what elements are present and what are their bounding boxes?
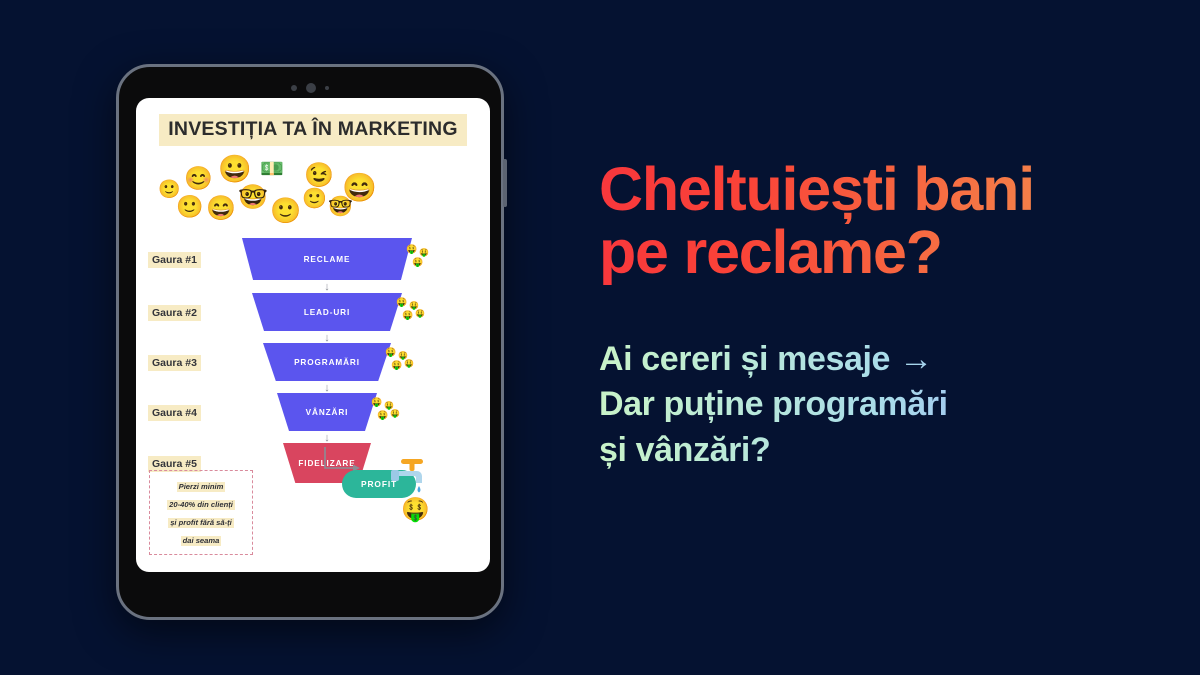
subheadline-line-1: Ai cereri și mesaje → xyxy=(599,337,1119,383)
money-face-icon: 🤑 xyxy=(391,361,402,370)
headline-line-2: pe reclame? xyxy=(599,221,1119,284)
leaking-customers-2: 🤑🤑🤑🤑 xyxy=(396,298,442,330)
copy-block: Cheltuiești bani pe reclame? Ai cereri ș… xyxy=(599,158,1119,474)
infographic-title: INVESTIȚIA TA ÎN MARKETING xyxy=(156,114,470,146)
hole-label-4: Gaura #4 xyxy=(148,405,201,421)
funnel-stage-programări: PROGRAMĂRI xyxy=(263,343,391,381)
funnel-stage-reclame: RECLAME xyxy=(242,238,412,280)
money-face-icon: 🤑 xyxy=(406,245,417,254)
faucet-icon xyxy=(389,456,435,500)
funnel-arrow-icon: ↓ xyxy=(324,383,330,394)
tablet-side-button[interactable] xyxy=(503,159,507,207)
hole-label-1: Gaura #1 xyxy=(148,252,201,268)
leaking-customers-1: 🤑🤑🤑 xyxy=(406,245,452,277)
money-face-icon: 🤑 xyxy=(419,249,429,257)
loss-note-box: Pierzi minim20-40% din cliențiși profit … xyxy=(149,470,253,555)
loss-note-line: Pierzi minim xyxy=(177,482,226,492)
subheadline-line-3: și vânzări? xyxy=(599,428,1119,474)
money-face-icon: 🤑 xyxy=(390,410,400,418)
money-face-icon: 🤑 xyxy=(385,348,396,357)
leaking-customers-3: 🤑🤑🤑🤑 xyxy=(385,348,431,380)
loss-note-line: și profit fără să-ți xyxy=(168,518,234,528)
money-face-icon: 🤑 xyxy=(412,258,423,267)
hole-label-2: Gaura #2 xyxy=(148,305,201,321)
crowd-emoji-icon: 🤓 xyxy=(238,186,268,210)
hole-label-3: Gaura #3 xyxy=(148,355,201,371)
camera-dot-icon xyxy=(291,85,297,91)
money-face-icon: 🤑 xyxy=(377,411,388,420)
money-face-icon: 🤑 xyxy=(404,360,414,368)
crowd-emoji-icon: 🙂 xyxy=(270,199,301,224)
crowd-emoji-icon: 😉 xyxy=(304,164,334,188)
funnel-arrow-icon: ↓ xyxy=(324,333,330,344)
crowd-emoji-icon: 🙂 xyxy=(176,196,203,218)
funnel-arrow-icon: ↓ xyxy=(324,282,330,293)
money-face-icon: 🤑 xyxy=(401,498,430,521)
camera-lens-icon xyxy=(306,83,316,93)
crowd-emoji-icon: 😊 xyxy=(184,167,213,190)
crowd-emoji-icon: 💵 xyxy=(260,160,284,179)
money-face-icon: 🤑 xyxy=(371,398,382,407)
crowd-emoji-icon: 😄 xyxy=(206,197,236,221)
headline-line-1: Cheltuiești bani xyxy=(599,155,1034,223)
infographic-title-text: INVESTIȚIA TA ÎN MARKETING xyxy=(159,114,466,146)
funnel-stage-vânzări: VÂNZĂRI xyxy=(277,393,377,431)
loss-note-line: 20-40% din clienți xyxy=(167,500,235,510)
crowd-emoji-icon: 🤓 xyxy=(328,197,353,217)
camera-indicator-icon xyxy=(325,86,329,90)
funnel-arrow-icon: ↓ xyxy=(324,433,330,444)
crowd-emoji-icon: 🙂 xyxy=(302,189,327,209)
money-face-icon: 🤑 xyxy=(402,311,413,320)
tablet-screen: INVESTIȚIA TA ÎN MARKETING 🙂😊😀💵😉😄🙂😄🤓🙂🙂🤓 … xyxy=(136,98,490,572)
crowd-emoji-icon: 😀 xyxy=(218,156,252,183)
subheadline-line-2: Dar puține programări xyxy=(599,382,1119,428)
money-face-icon: 🤑 xyxy=(415,310,425,318)
money-face-icon: 🤑 xyxy=(396,298,407,307)
tablet-mockup: INVESTIȚIA TA ÎN MARKETING 🙂😊😀💵😉😄🙂😄🤓🙂🙂🤓 … xyxy=(116,64,504,620)
headline: Cheltuiești bani pe reclame? xyxy=(599,158,1119,285)
emoji-crowd: 🙂😊😀💵😉😄🙂😄🤓🙂🙂🤓 xyxy=(136,152,490,230)
loss-note-line: dai seama xyxy=(181,536,222,546)
subheadline: Ai cereri și mesaje → Dar puține program… xyxy=(599,337,1119,474)
tablet-camera-row xyxy=(119,83,501,93)
leaking-customers-4: 🤑🤑🤑🤑 xyxy=(371,398,417,430)
infographic: INVESTIȚIA TA ÎN MARKETING 🙂😊😀💵😉😄🙂😄🤓🙂🙂🤓 … xyxy=(136,98,490,572)
funnel-stage-lead-uri: LEAD-URI xyxy=(252,293,402,331)
